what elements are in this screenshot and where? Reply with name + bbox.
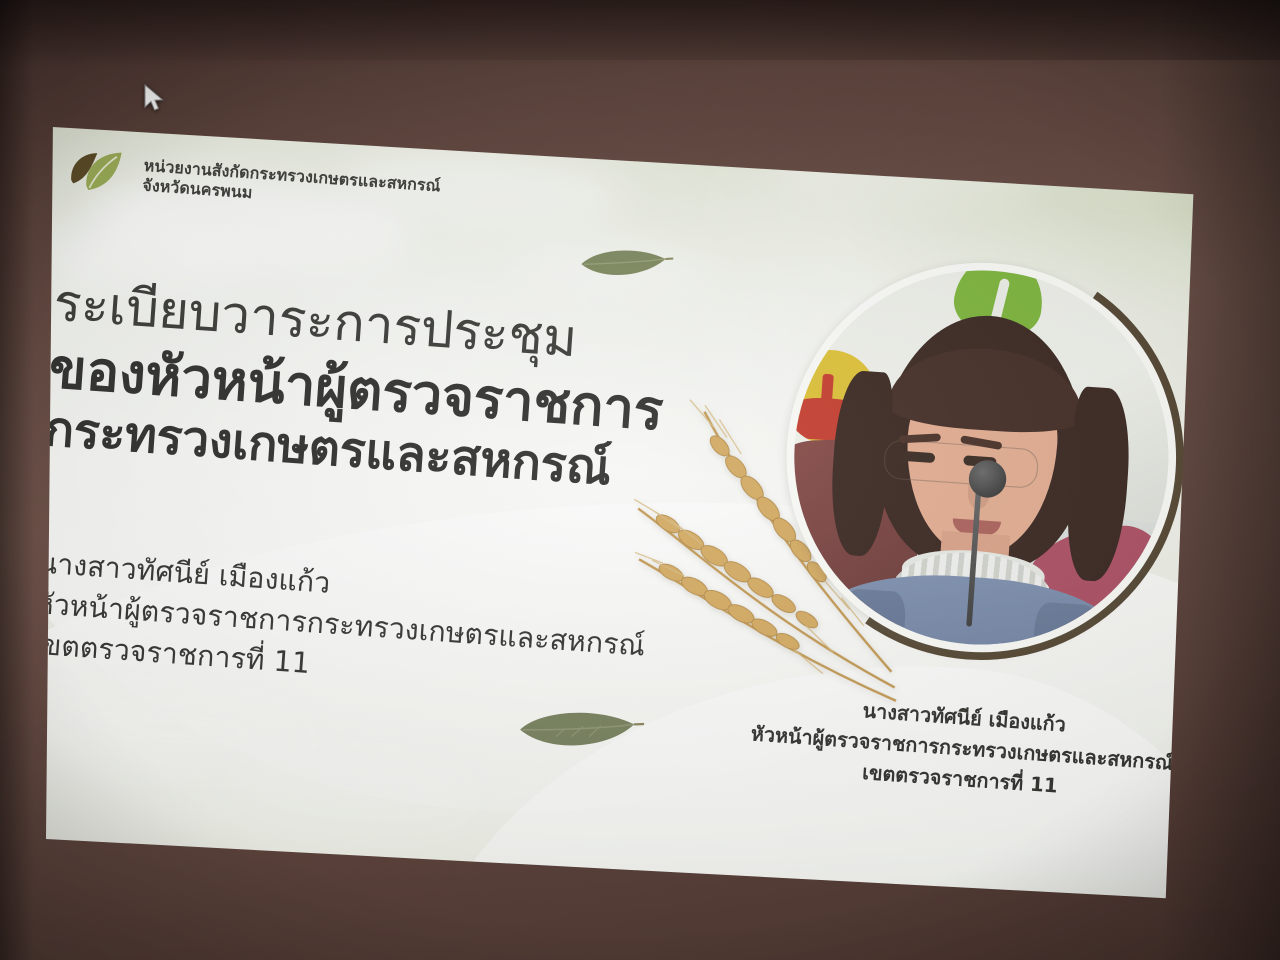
jacket-shade-right xyxy=(1026,601,1113,657)
portrait-photo: Brunei Darussalam xyxy=(782,258,1181,657)
leaf-icon xyxy=(576,242,675,286)
wall-left-shadow xyxy=(0,0,34,960)
projector-room-scene: หน่วยงานสังกัดกระทรวงเกษตรและสหกรณ์ จังห… xyxy=(0,0,1280,960)
two-leaf-logo-icon xyxy=(66,147,131,202)
portrait-frame: Brunei Darussalam xyxy=(765,242,1197,674)
mouse-pointer-arrow-icon[interactable] xyxy=(143,84,165,114)
projected-slide-area: หน่วยงานสังกัดกระทรวงเกษตรและสหกรณ์ จังห… xyxy=(46,103,1198,903)
jacket-shade-left xyxy=(820,587,907,657)
wall-top-shadow xyxy=(0,0,1280,70)
